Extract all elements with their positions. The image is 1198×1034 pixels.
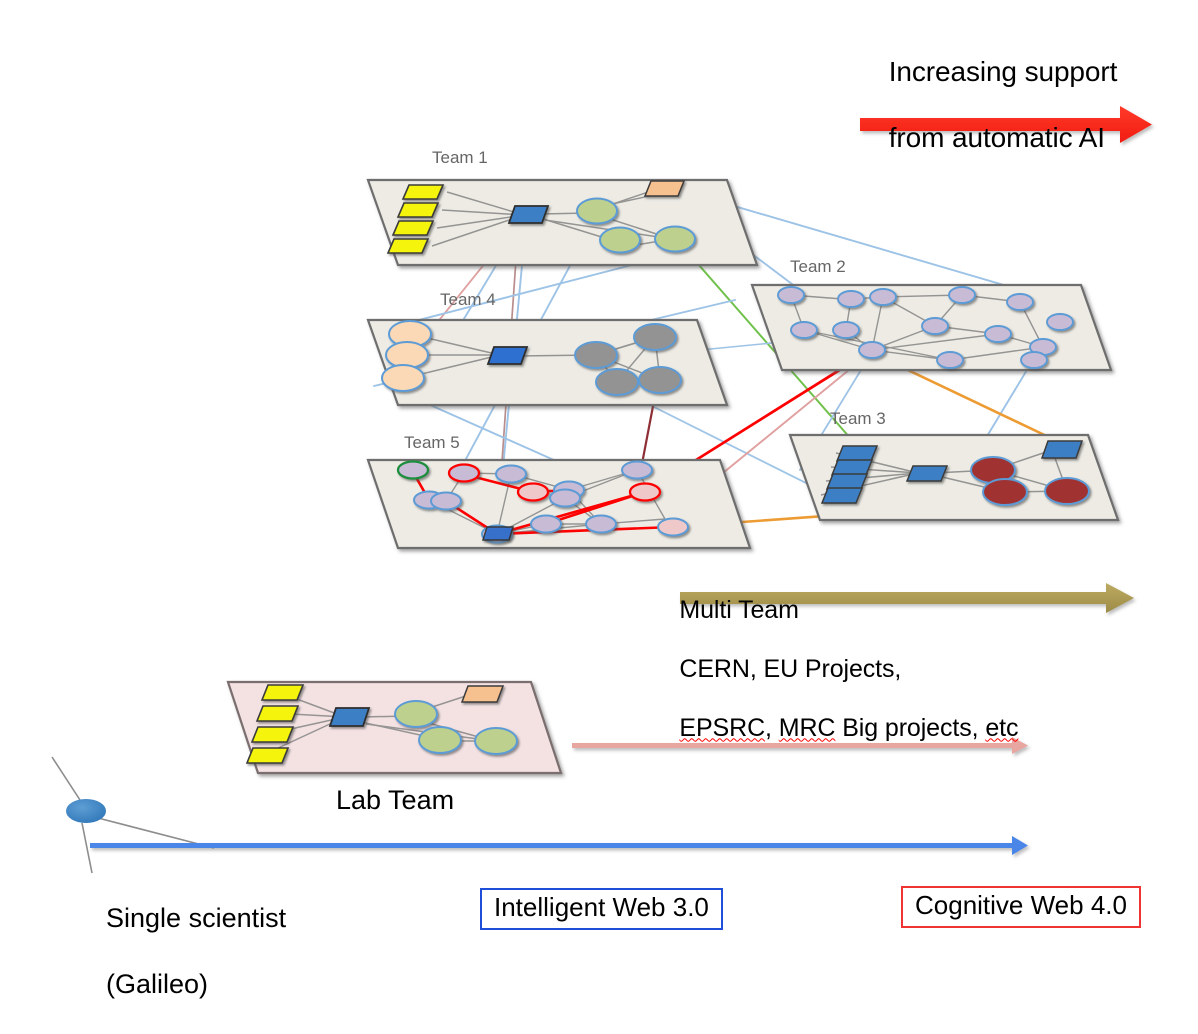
single-scientist-label: Single scientist (Galileo)	[76, 869, 286, 1034]
caption-line-1: Increasing support	[889, 56, 1118, 87]
multi-team-sep-2: Big projects,	[835, 714, 985, 742]
layer-team1[interactable]: Team 1	[368, 148, 757, 265]
intelligent-web-box[interactable]: Intelligent Web 3.0	[480, 888, 723, 930]
team1-label: Team 1	[432, 148, 488, 167]
cognitive-web-box[interactable]: Cognitive Web 4.0	[901, 886, 1141, 928]
team5-label: Team 5	[404, 433, 460, 452]
team4-peach-nodes[interactable]	[382, 321, 431, 391]
timeline-arrow	[90, 836, 1028, 855]
team2-label: Team 2	[790, 257, 846, 276]
lab-team-orange-node[interactable]	[462, 686, 503, 702]
layer-team3[interactable]: Team 3	[790, 409, 1118, 520]
team4-blue-hub[interactable]	[488, 347, 527, 364]
multi-team-line-2: CERN, EU Projects,	[679, 655, 901, 683]
team1-orange-node[interactable]	[645, 181, 684, 196]
multi-team-epsrc: EPSRC	[679, 714, 765, 742]
lab-team-blue-hub[interactable]	[330, 708, 369, 726]
increasing-support-caption: Increasing support from automatic AI	[858, 22, 1188, 187]
multi-team-etc: etc	[985, 714, 1018, 742]
multi-team-mrc: MRC	[779, 714, 836, 742]
layer-lab-team[interactable]	[228, 682, 561, 773]
multi-team-caption: Multi Team CERN, EU Projects, EPSRC, MRC…	[652, 566, 1082, 773]
caption-line-2: from automatic AI	[889, 122, 1105, 153]
team3-label: Team 3	[830, 409, 886, 428]
team5-blue-parallelogram[interactable]	[483, 527, 513, 540]
diagram-canvas: Team 1	[0, 0, 1198, 958]
team4-label: Team 4	[440, 290, 496, 309]
layer-team2[interactable]: Team 2	[752, 257, 1111, 370]
single-scientist-line-1: Single scientist	[106, 903, 286, 933]
multi-team-line-1: Multi Team	[679, 596, 798, 624]
single-scientist-line-2: (Galileo)	[106, 969, 208, 999]
multi-team-sep-1: ,	[765, 714, 779, 742]
layer-team5[interactable]: Team 5	[368, 433, 750, 548]
lab-team-label: Lab Team	[336, 785, 454, 817]
team1-blue-hub[interactable]	[509, 206, 548, 223]
single-scientist-node[interactable]	[66, 799, 106, 823]
single-scientist-node-group[interactable]	[52, 757, 214, 873]
